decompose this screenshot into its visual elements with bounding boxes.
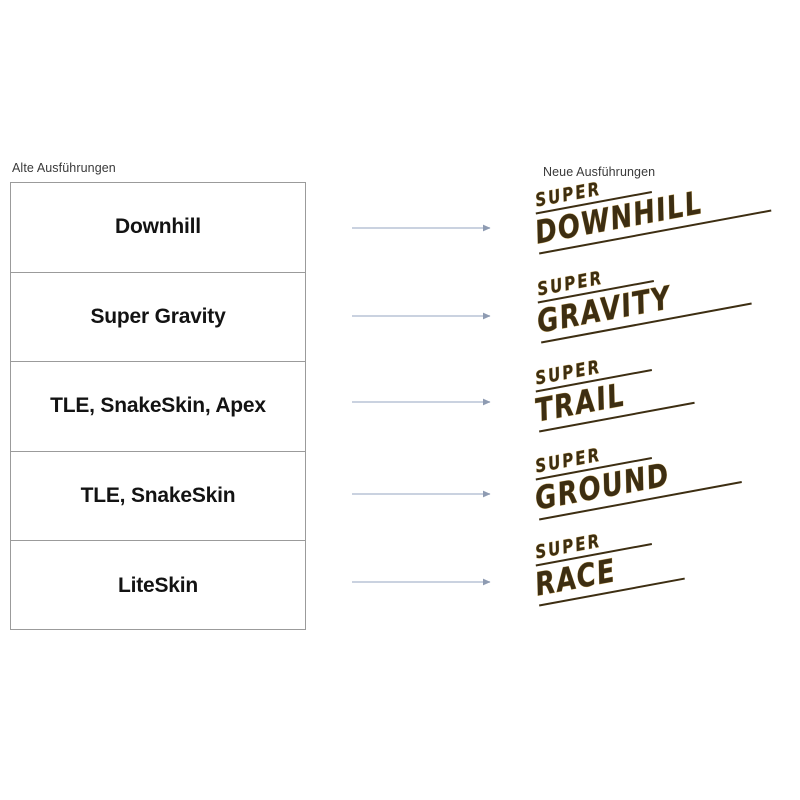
logo-super-trail: SUPER TRAIL (529, 346, 695, 433)
logo-super-ground: SUPER GROUND (529, 425, 742, 521)
table-row: TLE, SnakeSkin, Apex (11, 362, 305, 452)
old-version-label: TLE, SnakeSkin (81, 484, 236, 508)
table-row: TLE, SnakeSkin (11, 452, 305, 542)
logo-super-gravity: SUPER GRAVITY (531, 246, 752, 343)
old-version-label: Super Gravity (90, 305, 225, 329)
table-row: Downhill (11, 183, 305, 273)
comparison-diagram: Alte Ausführungen Neue Ausführungen Down… (0, 0, 800, 800)
old-versions-table: Downhill Super Gravity TLE, SnakeSkin, A… (10, 182, 306, 630)
table-row: LiteSkin (11, 541, 305, 631)
table-row: Super Gravity (11, 273, 305, 363)
old-version-label: Downhill (115, 215, 201, 239)
old-version-label: LiteSkin (118, 574, 198, 598)
logo-super-race: SUPER RACE (529, 522, 685, 607)
old-versions-heading: Alte Ausführungen (12, 161, 116, 175)
old-version-label: TLE, SnakeSkin, Apex (50, 394, 266, 418)
